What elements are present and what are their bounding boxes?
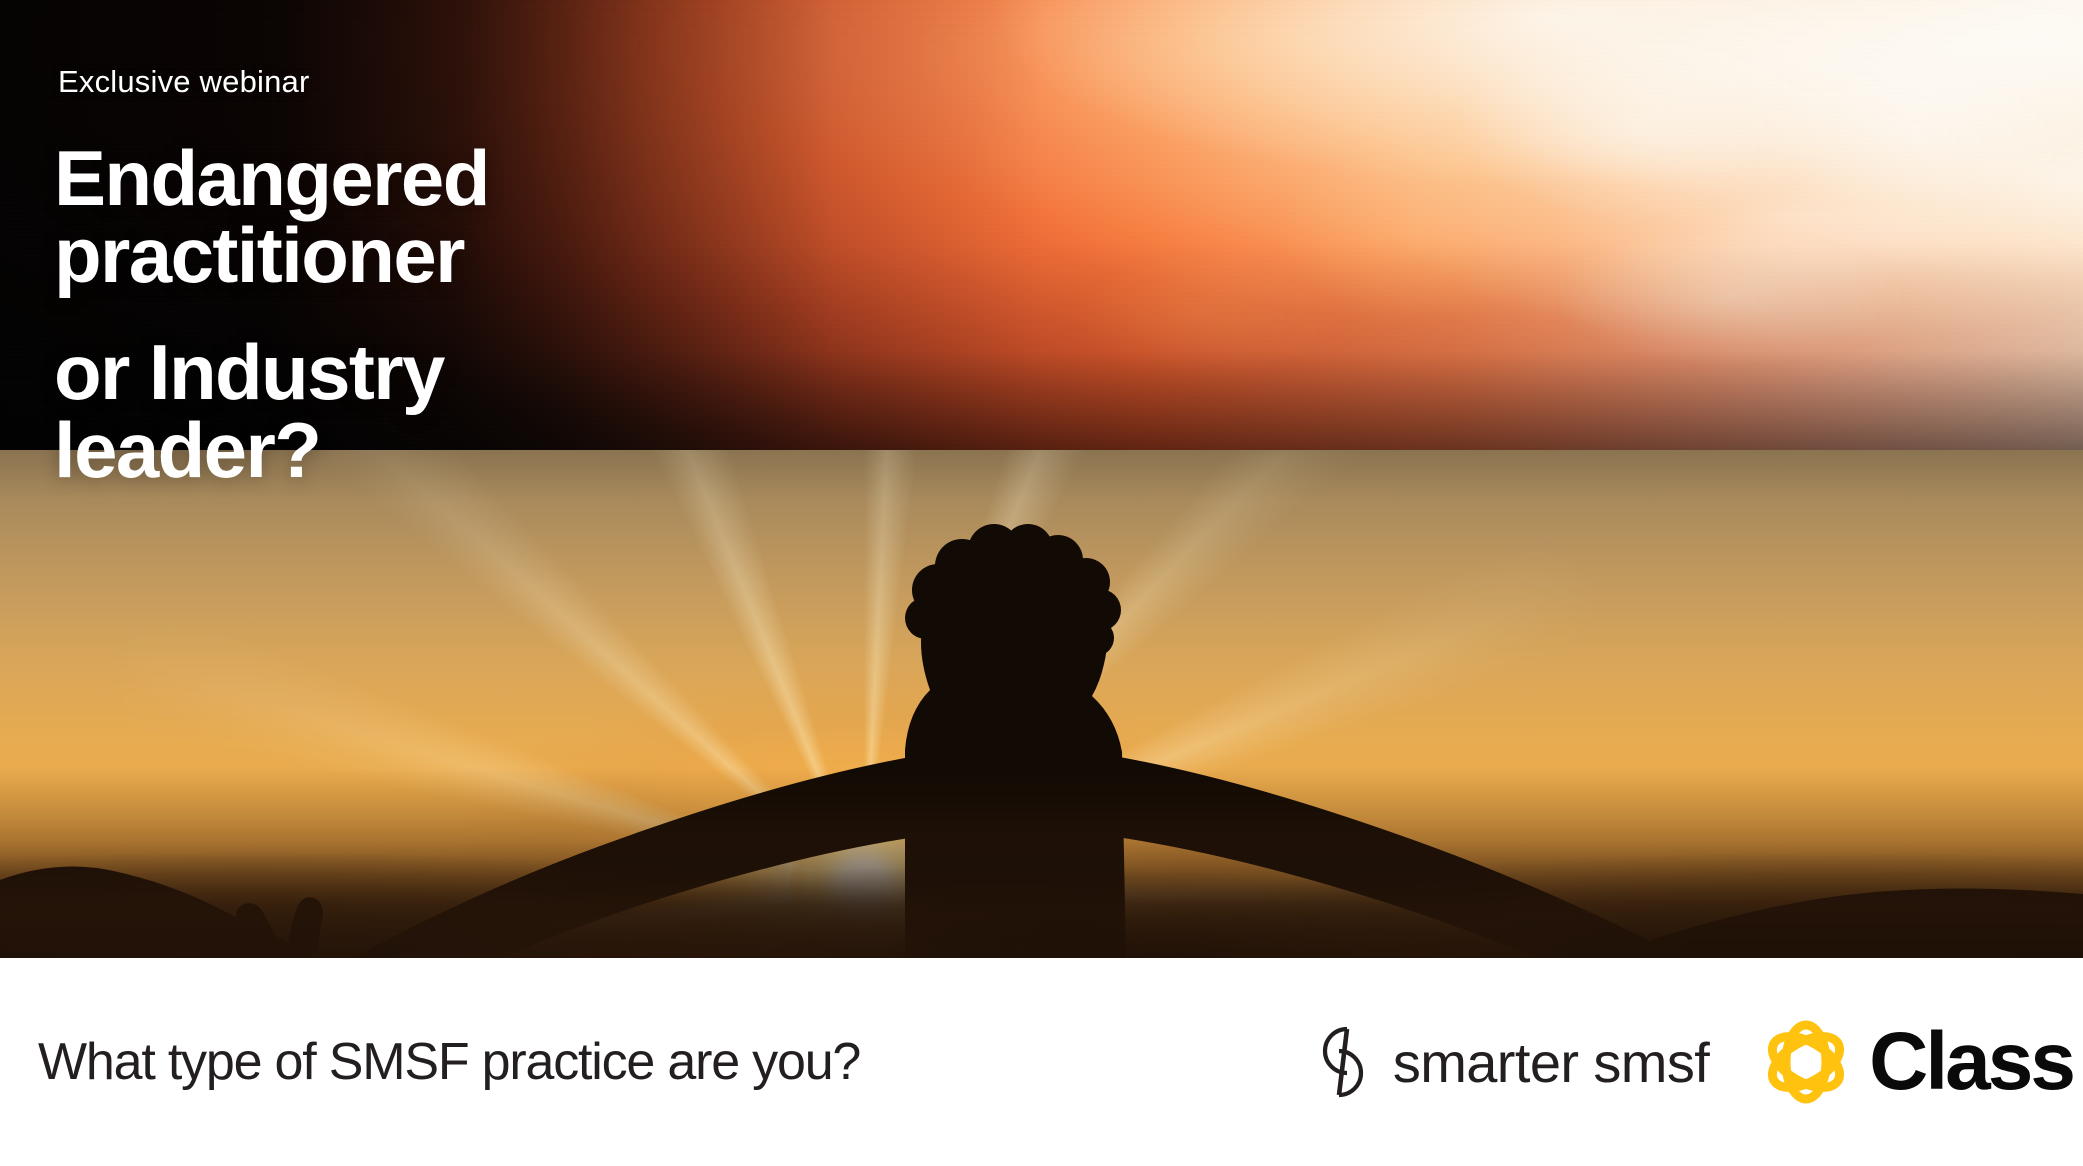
logo-row: smarter smsf Class	[1315, 1013, 2073, 1111]
smarter-smsf-wordmark: smarter smsf	[1393, 1030, 1709, 1095]
footer-tagline: What type of SMSF practice are you?	[38, 1032, 860, 1092]
headline-line-1: Endangered	[54, 140, 489, 217]
headline-line-2: practitioner	[54, 217, 489, 294]
class-wordmark: Class	[1869, 1015, 2073, 1109]
eyebrow-label: Exclusive webinar	[58, 64, 310, 100]
sunset-photo-panel	[0, 450, 2083, 958]
page-title: Endangered practitioner or Industry lead…	[54, 140, 489, 489]
headline-line-3: or Industry	[54, 334, 489, 411]
foreground-ridge	[0, 768, 2083, 958]
split-circle-icon	[1315, 1023, 1371, 1101]
headline-line-4: leader?	[54, 412, 489, 489]
class-logo[interactable]: Class	[1753, 1013, 2073, 1111]
trefoil-icon	[1753, 1013, 1859, 1111]
smarter-smsf-logo[interactable]: smarter smsf	[1315, 1023, 1709, 1101]
footer-bar: What type of SMSF practice are you? smar…	[0, 958, 2083, 1166]
hero-banner: Exclusive webinar Endangered practitione…	[0, 0, 2083, 958]
